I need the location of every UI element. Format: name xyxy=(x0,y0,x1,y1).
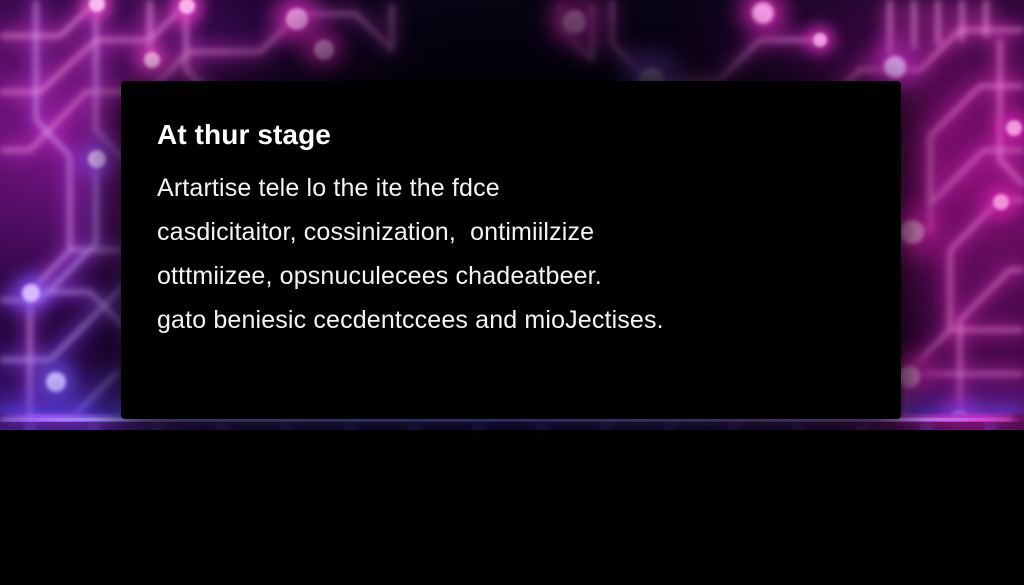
horizon-glow-core xyxy=(0,418,1024,421)
slide-canvas: At thur stage Artartise tele lo the ite … xyxy=(0,0,1024,585)
card-title: At thur stage xyxy=(157,118,876,152)
card-body-line-1: Artartise tele lo the ite the fdce xyxy=(157,166,876,210)
card-body-line-2: casdicitaitor, cossinization, ontimiilzi… xyxy=(157,210,876,254)
card-body-line-4: gato beniesic cecdentccees and mioJectis… xyxy=(157,298,876,342)
text-card-content: At thur stage Artartise tele lo the ite … xyxy=(157,118,876,342)
text-card: At thur stage Artartise tele lo the ite … xyxy=(122,82,900,418)
card-body-line-3: otttmiizee, opsnuculecees chadeatbeer. xyxy=(157,254,876,298)
floor-vignette xyxy=(0,430,1024,585)
